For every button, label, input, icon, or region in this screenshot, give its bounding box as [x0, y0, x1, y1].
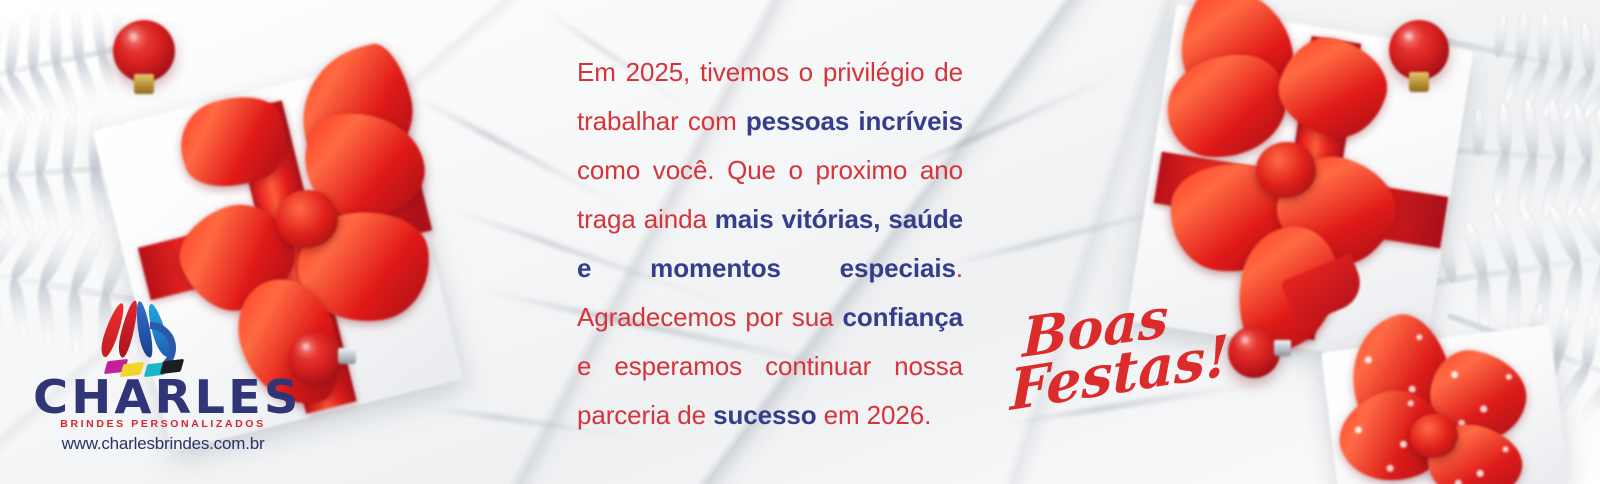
- brand-name: CHARLES: [33, 370, 293, 424]
- ornament-ball-icon: [1389, 20, 1449, 80]
- charles-flame-mark-icon: [102, 300, 188, 376]
- message-segment-2: pessoas incríveis: [746, 106, 963, 136]
- snowflake-bow-knot: [1410, 414, 1458, 458]
- message-segment-9: em 2026.: [816, 400, 931, 430]
- message-segment-8: sucesso: [713, 400, 816, 430]
- message-segment-6: confiança: [843, 302, 963, 332]
- ornament-ball-icon: [113, 20, 175, 82]
- ornament-cap-icon: [134, 74, 154, 94]
- holiday-greeting-banner: Em 2025, tivemos o privilégio de trabalh…: [0, 0, 1600, 484]
- gift-box-snowflake: [1300, 296, 1600, 484]
- greeting-message: Em 2025, tivemos o privilégio de trabalh…: [577, 48, 963, 440]
- brand-tagline: BRINDES PERSONALIZADOS: [38, 418, 288, 430]
- ornament-ball-icon: [1228, 326, 1280, 378]
- ornament-cap-icon: [338, 348, 356, 364]
- gift-bow-knot: [1256, 142, 1316, 198]
- gift-bow-knot: [276, 190, 338, 248]
- ornament-cap-icon: [1409, 72, 1429, 92]
- ornament-cap-icon: [1274, 340, 1291, 356]
- brand-website[interactable]: www.charlesbrindes.com.br: [38, 434, 288, 454]
- boas-festas-greeting: Boas Festas!: [1008, 296, 1218, 446]
- charles-logo[interactable]: CHARLES BRINDES PERSONALIZADOS www.charl…: [38, 300, 288, 460]
